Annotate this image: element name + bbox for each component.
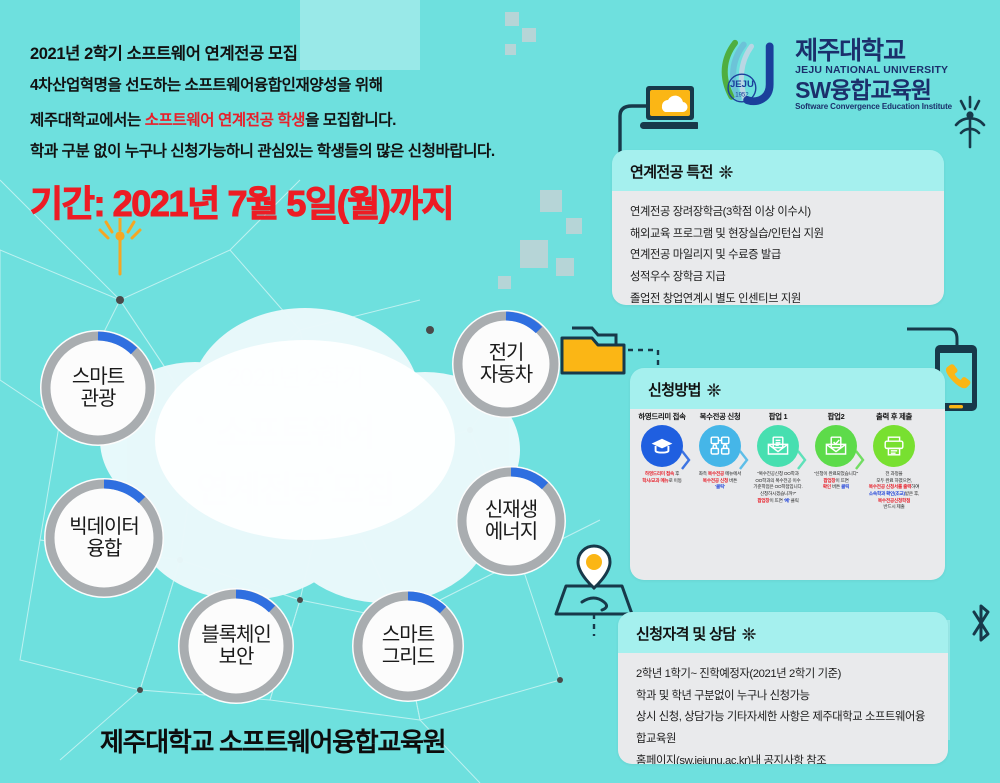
decor-square <box>498 276 511 289</box>
bubble-label: 신재생에너지 <box>485 499 537 544</box>
step-caption-4: "신청이 완료되었습니다"팝업창이 뜨면확인 버튼 클릭 <box>803 471 869 491</box>
header-line-3: 제주대학교에서는 소프트웨어 연계전공 학생을 모집합니다. <box>30 108 590 130</box>
benefits-box-header: 연계전공 특전 <box>612 150 944 191</box>
wifi-antenna-icon <box>948 95 992 151</box>
step-caption-1: 하영드리미 접속 후학사/교과 메뉴로 이동 <box>630 471 695 484</box>
list-item: 2학년 1학기~ 진학예정자(2021년 2학기 기준) <box>636 664 930 686</box>
signal-tower-icon <box>92 218 148 278</box>
header-line-3-post: 을 모집합니다. <box>305 112 396 129</box>
folder-dashed-connector <box>628 338 664 366</box>
benefits-title: 연계전공 특전 <box>630 161 713 182</box>
list-item: 연계전공 마일리지 및 수료증 발급 <box>630 245 926 267</box>
envelope-document-icon <box>766 434 790 458</box>
bluetooth-icon <box>966 600 996 648</box>
contact-box-body: 2학년 1학기~ 진학예정자(2021년 2학기 기준) 학과 및 학년 구분없… <box>618 653 948 764</box>
sparkle-icon <box>742 627 756 641</box>
step-caption-5: 전 과정을모두 완료 하였으면,복수전공 신청서를 출력하여소속학과 확인(조교… <box>861 471 927 511</box>
step-title-4: 팝업2 <box>804 411 868 422</box>
apply-box-header: 신청방법 <box>630 368 945 409</box>
bubble-blockchain-security[interactable]: 블록체인보안 <box>178 588 294 704</box>
step-title-1: 하영드리미 접속 <box>630 411 694 422</box>
bubble-label: 전기자동차 <box>480 342 532 387</box>
list-item: 연계전공 장려장학금(3학점 이상 이수시) <box>630 202 926 224</box>
svg-text:JEJU: JEJU <box>730 79 754 90</box>
list-item: 성적우수 장학금 지급 <box>630 267 926 289</box>
footer-text: 제주대학교 소프트웨어융합교육원 <box>100 722 445 759</box>
apply-title: 신청방법 <box>648 379 701 400</box>
apply-method-box: 신청방법 <box>630 368 945 580</box>
bubble-label: 블록체인보안 <box>201 624 271 669</box>
header-line-2: 4차산업혁명을 선도하는 소프트웨어융합인재양성을 위해 <box>30 73 590 95</box>
header-line-4: 학과 구분 없이 누구나 신청가능하니 관심있는 학생들의 많은 신청바랍니다. <box>30 139 590 161</box>
list-item: 상시 신청, 상담가능 기타자세한 사항은 제주대학교 소프트웨어융합교육원 <box>636 707 930 750</box>
laptop-cloud-icon <box>612 78 698 154</box>
sparkle-icon <box>707 383 721 397</box>
bubble-renewable-energy[interactable]: 신재생에너지 <box>456 466 566 576</box>
logo-english-dept: Software Convergence Education Institute <box>795 103 952 111</box>
svg-text:1952: 1952 <box>735 93 749 99</box>
decor-square <box>520 240 548 268</box>
step-icon-3-envelope-document-icon <box>757 425 799 467</box>
users-lock-icon <box>708 434 732 458</box>
bubble-smart-grid[interactable]: 스마트그리드 <box>352 590 464 702</box>
logo-korean-name: 제주대학교 <box>795 39 952 64</box>
bubble-label: 스마트관광 <box>72 366 124 411</box>
step-caption-3: "복수전공신청 OO학과OO학과의 복수전공 이수기준학점은 OO학점입니다.신… <box>745 471 811 504</box>
step-caption-2: 좌측 복수전공 메뉴에서복수전공 신청 버튼'클릭' <box>687 471 753 491</box>
contact-box-header: 신청자격 및 상담 <box>618 612 948 653</box>
benefits-box-body: 연계전공 장려장학금(3학점 이상 이수시) 해외교육 프로그램 및 현장실습/… <box>612 191 944 305</box>
step-title-5: 출력 후 제출 <box>862 411 926 422</box>
header-line-3-highlight: 소프트웨어 연계전공 학생 <box>145 112 305 129</box>
contact-list: 2학년 1학기~ 진학예정자(2021년 2학기 기준) 학과 및 학년 구분없… <box>636 664 930 764</box>
sparkle-icon <box>719 165 733 179</box>
folder-icon <box>556 322 630 380</box>
list-item: 졸업전 창업연계시 별도 인센티브 지원 <box>630 289 926 305</box>
logo-korean-dept: SW융합교육원 <box>795 79 952 102</box>
step-icon-5-printer-icon <box>873 425 915 467</box>
university-logo: JEJU 1952 제주대학교 JEJU NATIONAL UNIVERSITY… <box>709 36 952 114</box>
graduation-cap-icon <box>650 434 674 458</box>
list-item: 해외교육 프로그램 및 현장실습/인턴십 지원 <box>630 224 926 246</box>
contact-title: 신청자격 및 상담 <box>636 623 736 644</box>
bubble-label: 스마트그리드 <box>382 624 434 669</box>
header-block: 2021년 2학기 소프트웨어 연계전공 모집 4차산업혁명을 선도하는 소프트… <box>30 40 590 227</box>
contact-box: 신청자격 및 상담 2학년 1학기~ 진학예정자(2021년 2학기 기준) 학… <box>618 612 948 764</box>
step-icon-2-users-lock-icon <box>699 425 741 467</box>
benefits-list: 연계전공 장려장학금(3학점 이상 이수시) 해외교육 프로그램 및 현장실습/… <box>630 202 926 305</box>
decor-square <box>505 12 519 26</box>
logo-emblem-icon: JEJU 1952 <box>709 36 787 114</box>
list-item: 홈페이지(sw.jejunu.ac.kr)내 공지사항 참조 <box>636 751 930 764</box>
list-item: 학과 및 학년 구분없이 누구나 신청가능 <box>636 686 930 708</box>
step-icon-1-graduation-cap-icon <box>641 425 683 467</box>
logo-english-name: JEJU NATIONAL UNIVERSITY <box>795 65 952 76</box>
envelope-check-icon <box>824 434 848 458</box>
poster-root: 2021년 2학기 소프트웨어 연계전공 모집 4차산업혁명을 선도하는 소프트… <box>0 0 1000 783</box>
bubble-smart-tourism[interactable]: 스마트관광 <box>40 330 156 446</box>
printer-icon <box>882 434 906 458</box>
header-line-3-pre: 제주대학교에서는 <box>30 112 145 129</box>
bubble-electric-vehicle[interactable]: 전기자동차 <box>452 310 560 418</box>
benefits-box: 연계전공 특전 연계전공 장려장학금(3학점 이상 이수시) 해외교육 프로그램… <box>612 150 944 305</box>
logo-text: 제주대학교 JEJU NATIONAL UNIVERSITY SW융합교육원 S… <box>795 39 952 111</box>
step-icon-4-envelope-check-icon <box>815 425 857 467</box>
apply-box-body: 하영드리미 접속 하영드리미 접속 후학사/교과 메뉴로 이동 복수전공 신청 <box>630 409 945 580</box>
bubble-label: 빅데이터융합 <box>69 516 139 561</box>
header-line-1: 2021년 2학기 소프트웨어 연계전공 모집 <box>30 40 590 64</box>
bubble-bigdata-convergence[interactable]: 빅데이터융합 <box>44 478 164 598</box>
decor-square <box>556 258 574 276</box>
step-title-2: 복수전공 신청 <box>688 411 752 422</box>
step-title-3: 팝업 1 <box>746 411 810 422</box>
